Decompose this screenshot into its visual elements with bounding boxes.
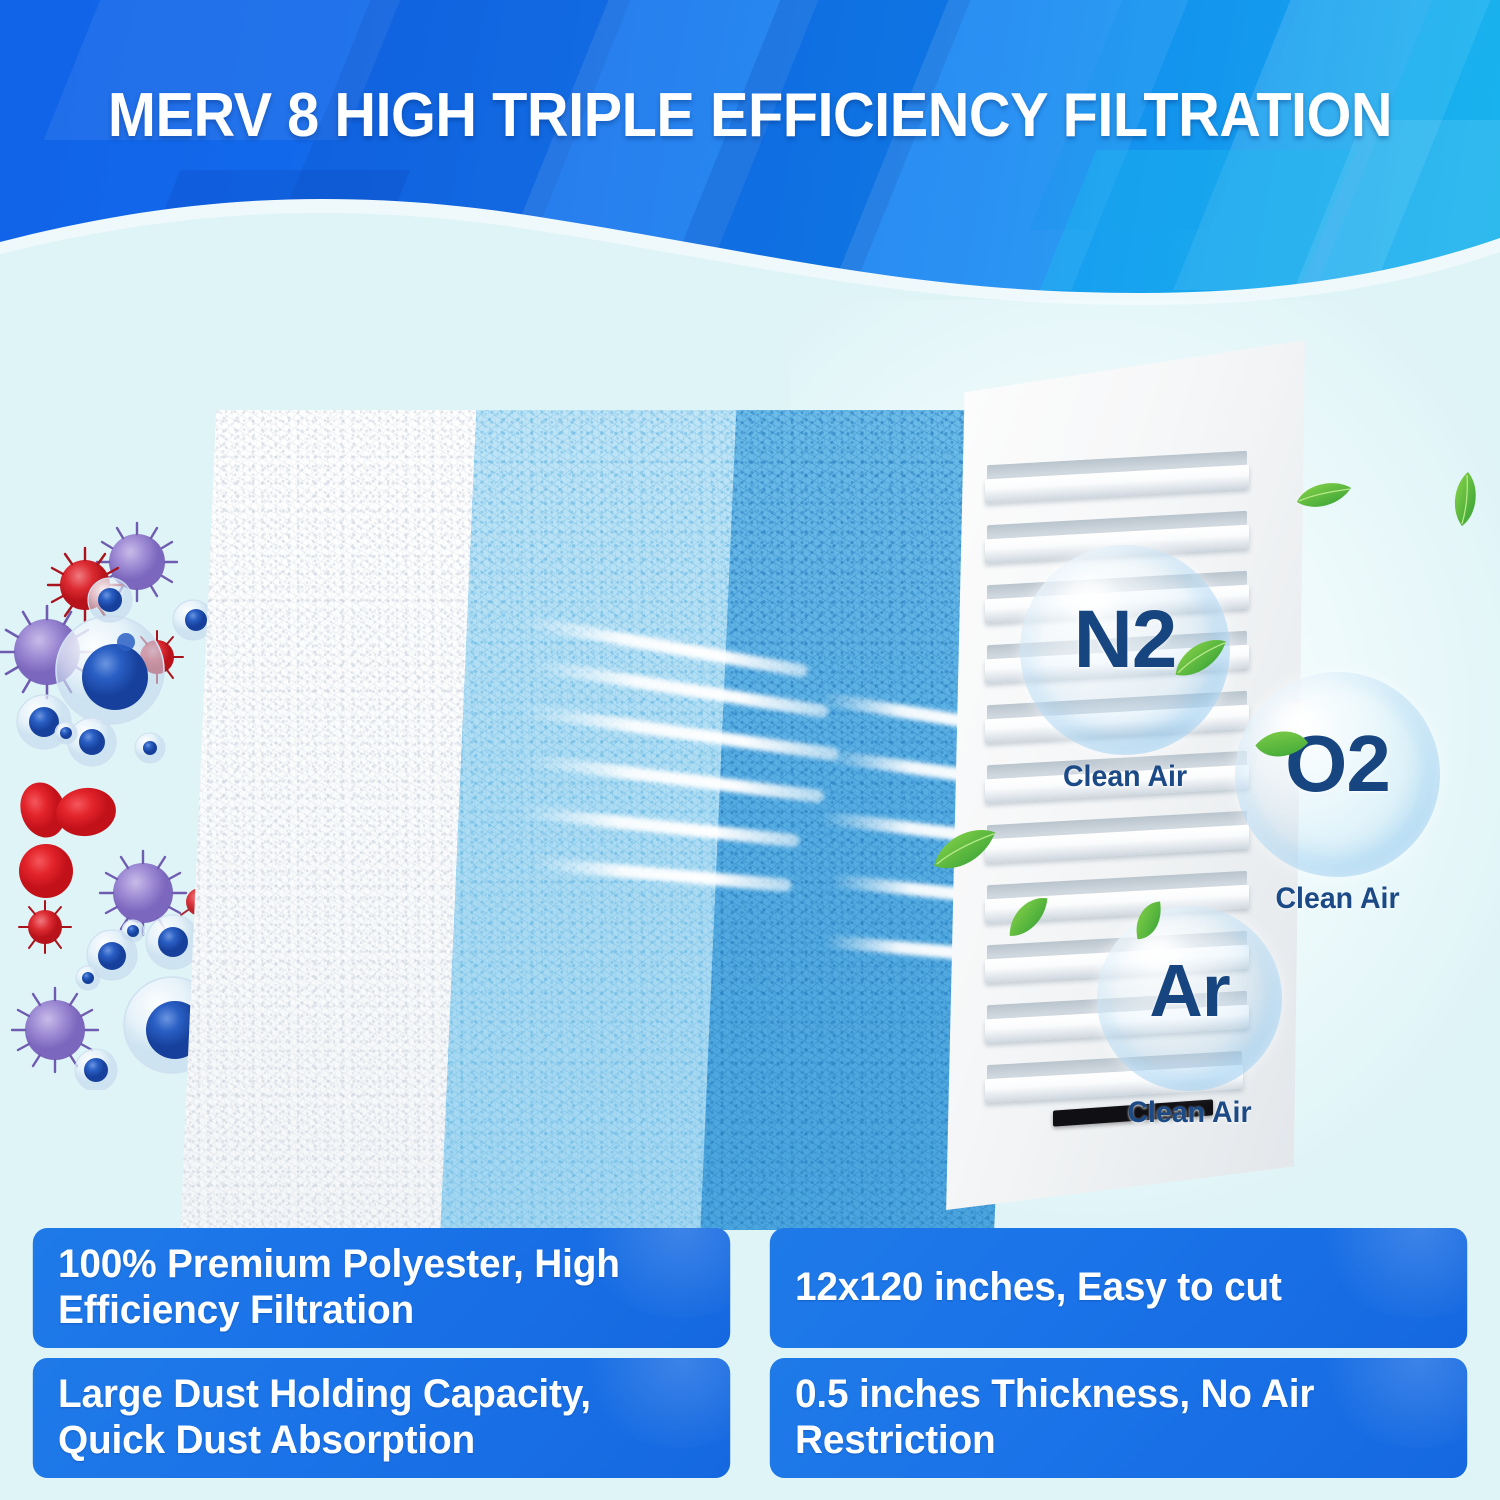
feature-box-thickness[interactable]: 0.5 inches Thickness, No Air Restriction (770, 1358, 1467, 1478)
feature-box-dust-capacity[interactable]: Large Dust Holding Capacity, Quick Dust … (33, 1358, 730, 1478)
cell-tiny-2 (135, 733, 165, 763)
cell-small-7 (75, 1049, 117, 1090)
red-blood-cell-3 (19, 844, 73, 898)
feature-list: 100% Premium Polyester, High Efficiency … (0, 1228, 1500, 1500)
cell-small-3 (68, 718, 116, 766)
red-blood-cell-2 (53, 784, 119, 840)
feature-box-size[interactable]: 12x120 inches, Easy to cut (770, 1228, 1467, 1348)
gas-bubble-n2: N2 Clean Air (1020, 545, 1250, 845)
feature-box-material[interactable]: 100% Premium Polyester, High Efficiency … (33, 1228, 730, 1348)
banner-wave-divider (0, 180, 1500, 320)
cell-tiny-4 (76, 966, 100, 990)
header-banner: MERV 8 HIGH TRIPLE EFFICIENCY FILTRATION (0, 0, 1500, 320)
bubble-caption-ar: Clean Air (1102, 1096, 1278, 1130)
cell-small-1 (88, 578, 132, 622)
product-diagram: N2 Clean Air O2 Clean Air Ar Clean Air (0, 300, 1500, 1230)
cell-tiny-3 (122, 920, 144, 942)
gas-bubble-ar: Ar Clean Air (1097, 906, 1312, 1196)
bubble-symbol-ar: Ar (1097, 948, 1282, 1033)
cell-tiny-1 (55, 722, 77, 744)
leaf-icon (1295, 480, 1353, 514)
leaf-icon (1448, 470, 1482, 528)
page-title: MERV 8 HIGH TRIPLE EFFICIENCY FILTRATION (53, 80, 1448, 151)
virus-red-3 (19, 901, 71, 953)
bubble-caption-n2: Clean Air (1025, 760, 1225, 794)
cell-large-1 (56, 616, 164, 724)
cell-small-6 (146, 915, 200, 969)
